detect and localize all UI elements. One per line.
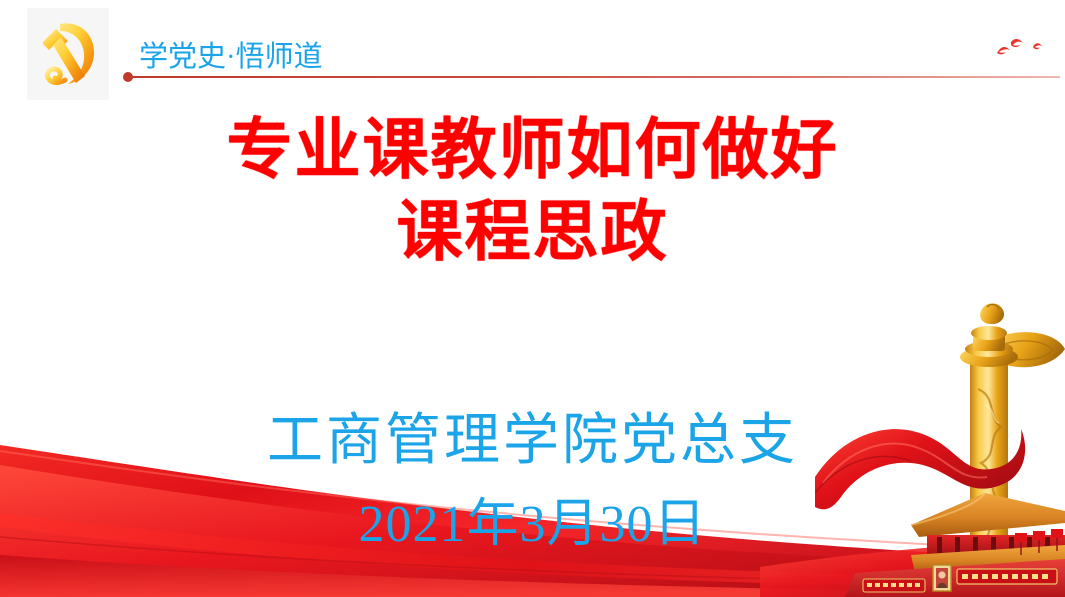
subtitle-date: 2021年3月30日 — [0, 494, 1065, 556]
slide-header: 学党史·悟师道 — [0, 0, 1065, 105]
flying-birds-icon — [985, 34, 1055, 64]
page-title: 专业课教师如何做好 课程思政 — [0, 112, 1065, 272]
party-emblem-box — [27, 8, 109, 100]
presentation-slide: 学党史·悟师道 专业课教师如何做好 课程思政 工商管理学院党总支 2021年3月… — [0, 0, 1065, 597]
header-slogan: 学党史·悟师道 — [139, 40, 323, 74]
ccp-party-emblem-hammer-sickle-icon — [27, 8, 109, 100]
page-title-line-1: 专业课教师如何做好 — [0, 112, 1065, 190]
page-title-line-2: 课程思政 — [0, 194, 1065, 272]
header-divider-line — [131, 76, 1060, 78]
subtitle-organization: 工商管理学院党总支 — [0, 408, 1065, 474]
